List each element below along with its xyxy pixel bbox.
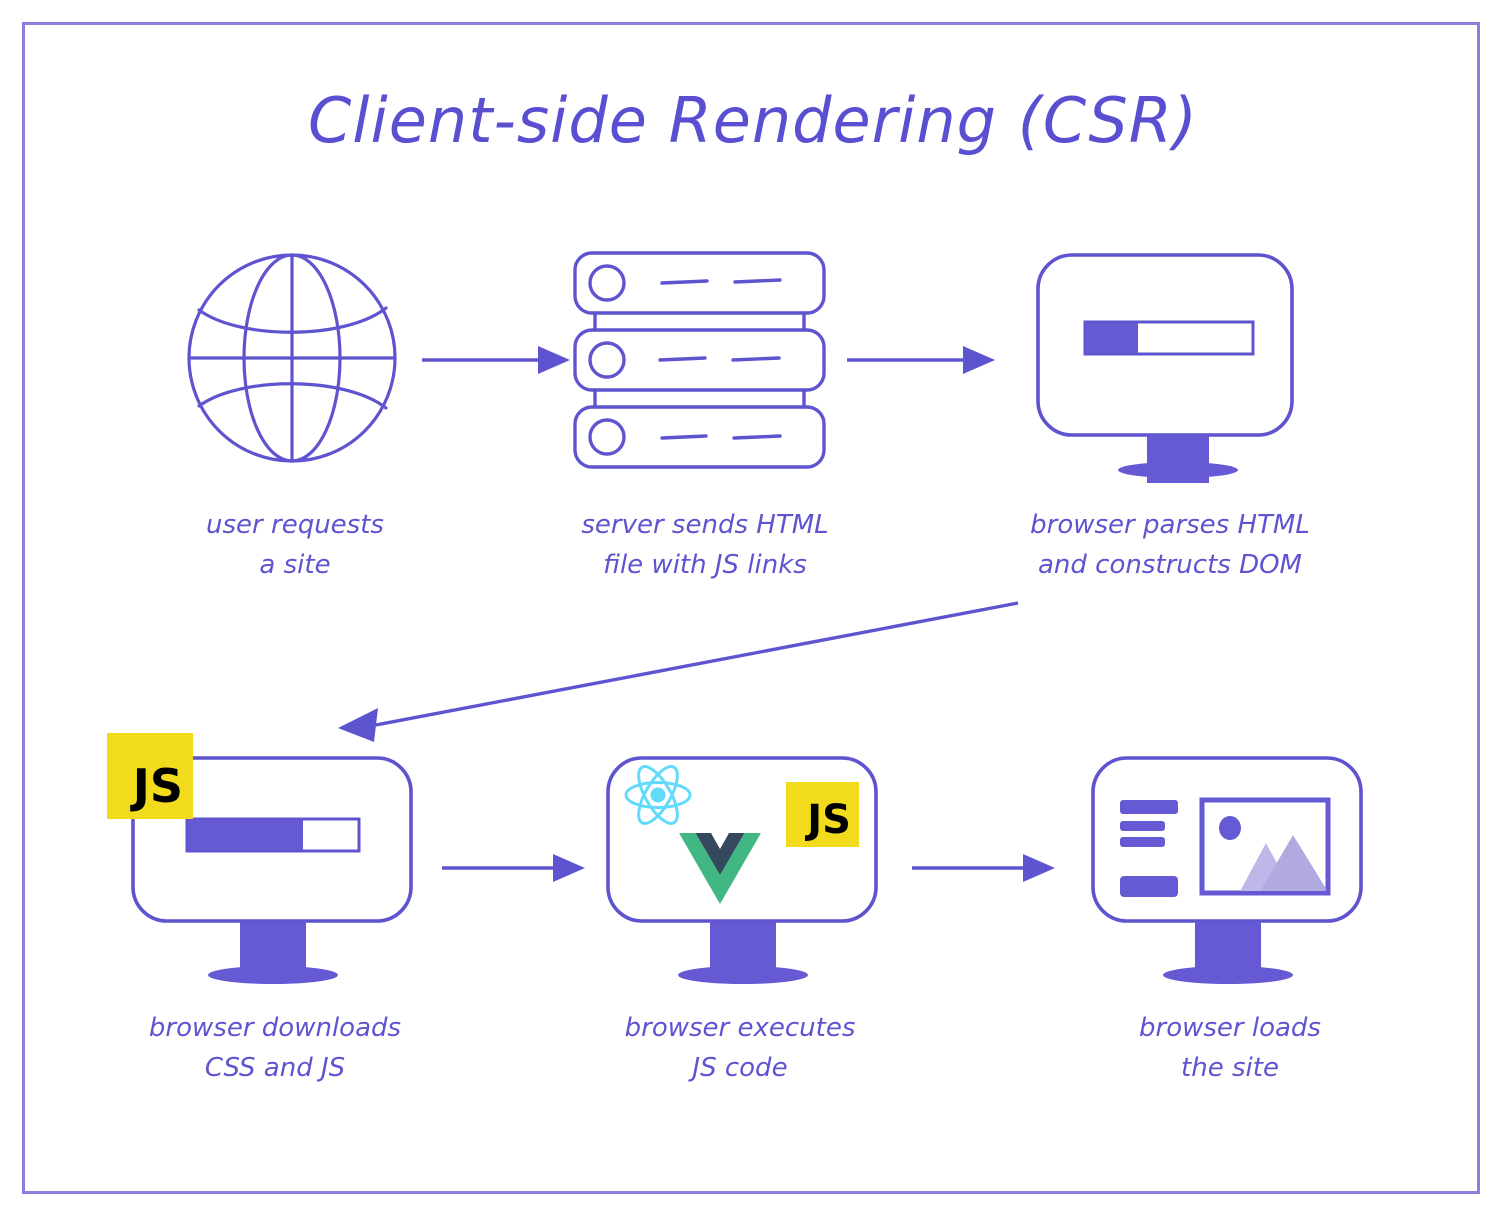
arrow-downloads-to-executes — [440, 848, 585, 888]
page-text-bar-2 — [1120, 821, 1165, 831]
arrow-server-to-browser — [845, 340, 995, 380]
arrow-browser-to-downloads — [330, 595, 1030, 745]
caption-step-3: browser parses HTML and constructs DOM — [975, 505, 1365, 585]
arrow-executes-to-loads — [910, 848, 1055, 888]
server-rack-icon — [572, 250, 827, 470]
vue-logo-icon — [679, 833, 761, 905]
progress-fill-parse — [1086, 323, 1138, 353]
react-logo-icon — [623, 762, 693, 828]
page-text-bar-1 — [1120, 800, 1178, 814]
page-text-bar-3 — [1120, 837, 1165, 847]
diagram-canvas: Client-side Rendering (CSR) — [0, 0, 1506, 1224]
caption-step-4: browser downloads CSS and JS — [110, 1008, 440, 1088]
image-sun-shape — [1219, 816, 1241, 840]
caption-step-6: browser loads the site — [1080, 1008, 1380, 1088]
globe-icon — [185, 248, 400, 468]
arrow-globe-to-server — [420, 340, 570, 380]
caption-step-2: server sends HTML file with JS links — [545, 505, 865, 585]
caption-step-5: browser executes JS code — [580, 1008, 900, 1088]
monitor-rendered-page-icon — [1090, 755, 1370, 990]
progress-fill-download — [188, 820, 303, 850]
page-title: Client-side Rendering (CSR) — [0, 84, 1506, 157]
caption-step-1: user requests a site — [150, 505, 440, 585]
page-button-bar — [1120, 876, 1178, 897]
js-badge-download: JS — [107, 733, 193, 819]
js-badge-executes: JS — [786, 782, 859, 847]
monitor-progress-icon-parse — [1035, 252, 1300, 477]
